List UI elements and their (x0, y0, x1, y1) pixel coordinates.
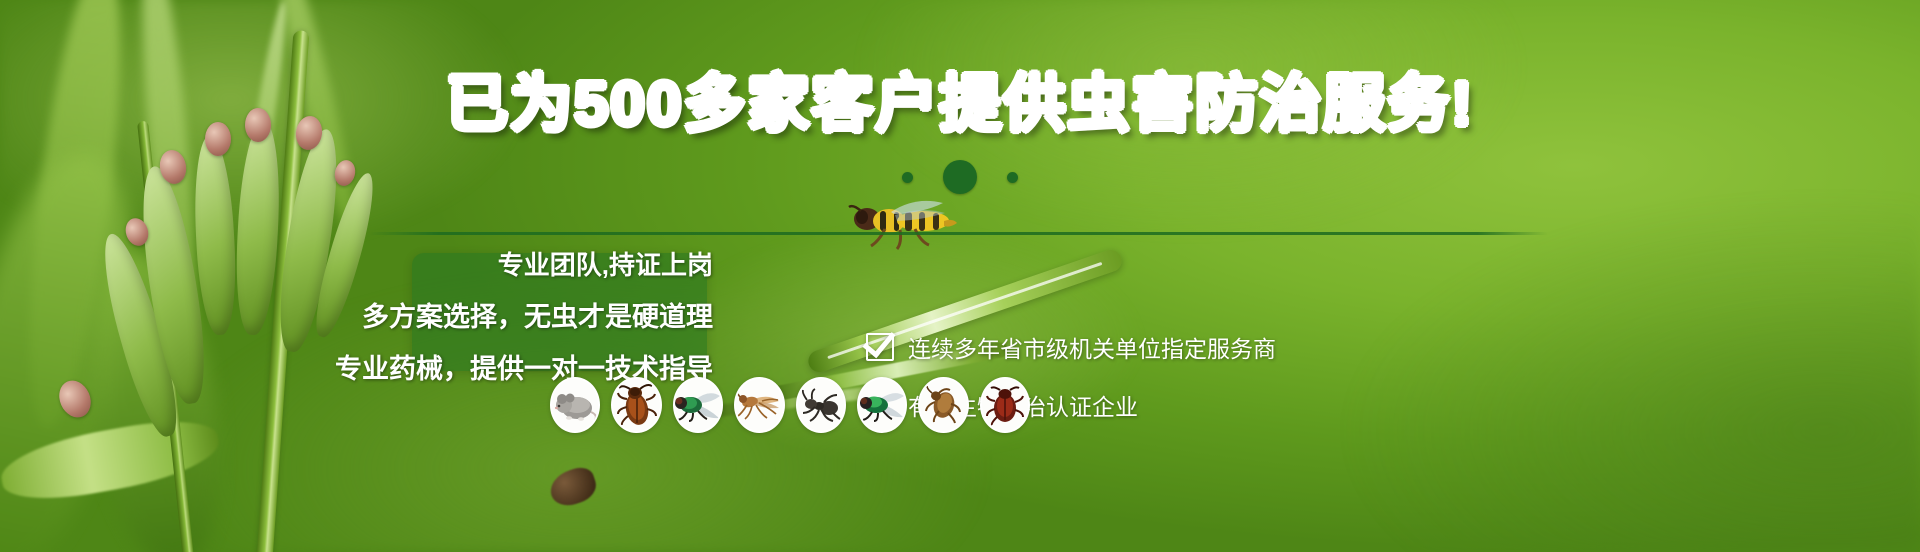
decorative-dot-row (0, 160, 1920, 194)
pest-type-icon-row (550, 376, 1030, 434)
selling-point-line-2: 多方案选择，无虫才是硬道理 (362, 295, 713, 334)
checkbox-checked-icon (866, 333, 894, 361)
page-title-text: 已为500多家客户提供虫害防治服务! (446, 74, 1474, 136)
page-title: 已为500多家客户提供虫害防治服务! (0, 74, 1920, 136)
mouse-icon[interactable] (550, 377, 600, 433)
selling-points-text-group: 专业团队,持证上岗 多方案选择，无虫才是硬道理 专业药械，提供一对一技术指导 (335, 250, 725, 380)
cockroach-icon[interactable] (611, 377, 661, 433)
housefly-icon[interactable] (673, 377, 723, 433)
flea-icon[interactable] (918, 377, 968, 433)
bedbug-icon[interactable] (980, 377, 1030, 433)
selling-point-line-1: 专业团队,持证上岗 (498, 245, 713, 282)
greenbottle-fly-icon[interactable] (857, 377, 907, 433)
ant-icon[interactable] (796, 377, 846, 433)
mosquito-icon[interactable] (734, 377, 784, 433)
pest-control-hero-banner: 已为500多家客户提供虫害防治服务! 专业团队,持证上岗 多方案选择，无虫才是硬… (0, 0, 1920, 552)
hoverfly-icon (845, 195, 960, 257)
decor-dot-small-left (902, 172, 913, 183)
decor-dot-small-right (1007, 172, 1018, 183)
credential-item-1: 连续多年省市级机关单位指定服务商 (866, 330, 1386, 364)
credential-label-1: 连续多年省市级机关单位指定服务商 (908, 330, 1276, 364)
decor-dot-large-center (943, 160, 977, 194)
horizontal-divider (368, 232, 1548, 235)
